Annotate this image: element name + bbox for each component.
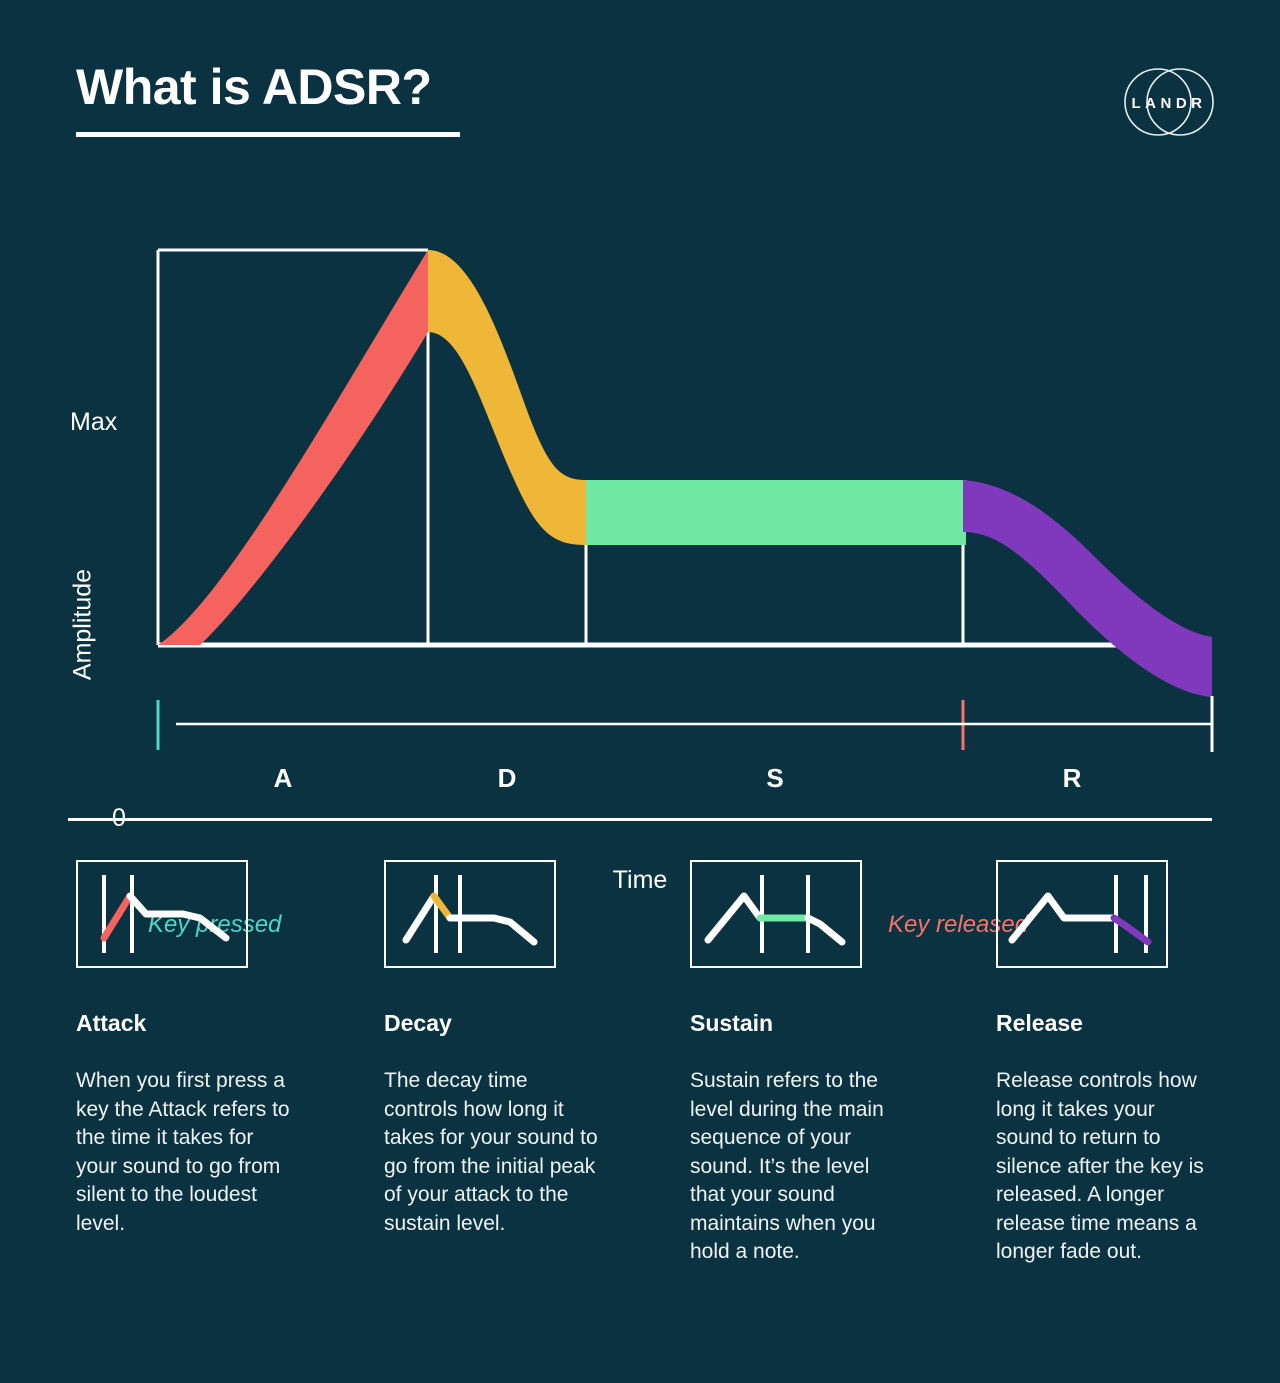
adsr-attack-icon [76, 860, 248, 968]
page-title: What is ADSR? [76, 62, 432, 112]
icon-release-segment [1114, 918, 1148, 942]
card-attack: Attack When you first press a key the At… [76, 860, 336, 1238]
adsr-release-icon [996, 860, 1168, 968]
phase-label-a: A [274, 763, 293, 794]
icon-envelope-head [1012, 896, 1114, 940]
adsr-sustain-icon [690, 860, 862, 968]
adsr-decay-icon [384, 860, 556, 968]
card-title-attack: Attack [76, 1010, 336, 1037]
adsr-decay-icon-svg [386, 862, 554, 966]
sustain-band [586, 480, 966, 545]
adsr-sustain-icon-svg [692, 862, 860, 966]
release-band [963, 480, 1212, 697]
adsr-chart: Max 0 Amplitude A D S R Time Key pressed… [0, 180, 1280, 800]
adsr-release-icon-svg [998, 862, 1166, 966]
card-body-release: Release controls how long it takes your … [996, 1067, 1211, 1267]
card-decay: Decay The decay time controls how long i… [384, 860, 644, 1238]
card-sustain: Sustain Sustain refers to the level duri… [690, 860, 950, 1267]
icon-attack-segment [104, 896, 130, 938]
landr-logo-icon: LANDR [1114, 58, 1224, 146]
landr-logo: LANDR [1114, 58, 1224, 146]
attack-band [158, 250, 428, 645]
page-header: What is ADSR? LANDR [0, 0, 1280, 180]
card-title-release: Release [996, 1010, 1256, 1037]
icon-envelope-rest [450, 918, 534, 942]
card-body-decay: The decay time controls how long it take… [384, 1067, 599, 1238]
card-release: Release Release controls how long it tak… [996, 860, 1256, 1267]
landr-logo-text: LANDR [1132, 95, 1207, 112]
icon-attack-segment [406, 896, 434, 940]
phase-label-r: R [1063, 763, 1082, 794]
icon-envelope-rest [130, 896, 226, 938]
icon-release-segment [808, 918, 842, 942]
card-title-decay: Decay [384, 1010, 644, 1037]
adsr-attack-icon-svg [78, 862, 246, 966]
section-divider [68, 818, 1212, 821]
card-title-sustain: Sustain [690, 1010, 950, 1037]
card-body-attack: When you first press a key the Attack re… [76, 1067, 291, 1238]
title-underline [76, 132, 460, 137]
phase-label-s: S [766, 763, 783, 794]
adsr-cards: Attack When you first press a key the At… [0, 860, 1280, 1360]
icon-attack-decay-segment [708, 896, 760, 940]
phase-label-d: D [498, 763, 517, 794]
adsr-envelope-svg [0, 180, 1280, 800]
decay-band [428, 250, 586, 545]
card-body-sustain: Sustain refers to the level during the m… [690, 1067, 905, 1267]
